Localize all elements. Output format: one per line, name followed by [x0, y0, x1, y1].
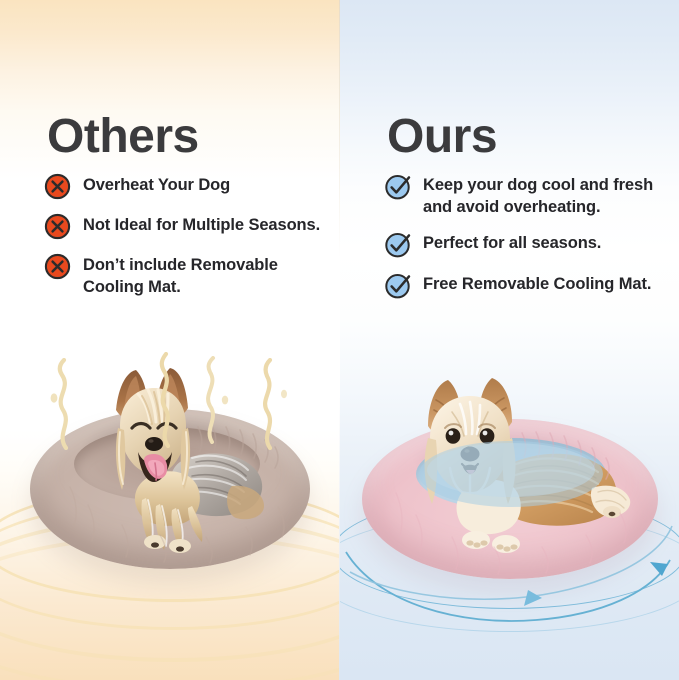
cross-circle-icon [44, 173, 71, 200]
list-item-label: Keep your dog cool and fresh and avoid o… [423, 175, 666, 219]
list-item: Not Ideal for Multiple Seasons. [44, 215, 326, 242]
cool-airflow-arrows [340, 480, 679, 640]
page-title-others: Others [47, 113, 199, 161]
list-item: Overheat Your Dog [44, 175, 326, 202]
cross-circle-icon [44, 253, 71, 280]
check-circle-icon [384, 173, 411, 200]
list-item-label: Overheat Your Dog [83, 175, 230, 197]
others-panel: Others Overheat Your Dog [0, 0, 339, 680]
check-circle-icon [384, 272, 411, 299]
comparison-infographic: Others Overheat Your Dog [0, 0, 679, 680]
list-item-label: Free Removable Cooling Mat. [423, 274, 651, 296]
list-item-label: Don’t include Removable Cooling Mat. [83, 255, 326, 299]
right-scene [340, 0, 679, 680]
list-item: Perfect for all seasons. [384, 233, 666, 260]
list-item-label: Perfect for all seasons. [423, 233, 601, 255]
heat-wave-icon-2 [146, 352, 192, 448]
list-item: Keep your dog cool and fresh and avoid o… [384, 175, 666, 219]
list-item-label: Not Ideal for Multiple Seasons. [83, 215, 320, 237]
list-item: Don’t include Removable Cooling Mat. [44, 255, 326, 299]
panel-divider [339, 0, 340, 680]
left-scene [0, 0, 339, 680]
cross-circle-icon [44, 213, 71, 240]
heat-wave-icon-4 [248, 358, 296, 450]
heat-wave-icon-1 [46, 358, 96, 450]
check-circle-icon [384, 231, 411, 258]
ours-panel: Ours Keep your dog cool and fresh and av… [340, 0, 679, 680]
heat-wave-icon-3 [192, 356, 238, 444]
others-bullet-list: Overheat Your Dog Not Ideal for Multiple… [44, 175, 326, 299]
page-title-ours: Ours [387, 113, 497, 161]
list-item: Free Removable Cooling Mat. [384, 274, 666, 301]
ours-bullet-list: Keep your dog cool and fresh and avoid o… [384, 175, 666, 315]
